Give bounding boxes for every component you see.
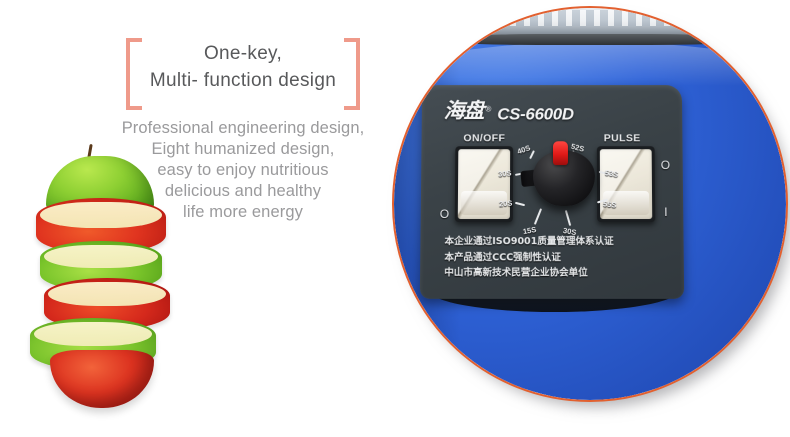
speed-control-knob[interactable] [525,142,603,222]
apple-bottom-red [50,350,154,408]
onoff-rocker-face [458,149,510,219]
onoff-switch-label: ON/OFF [463,132,505,144]
product-photo-circle: 海盘 ® CS-6600D ON/OFF O PULSE O I [392,6,788,402]
body-copy: Professional engineering design, Eight h… [118,118,368,223]
model-number: CS-6600D [497,105,574,125]
brand-row: 海盘 ® CS-6600D [444,95,574,125]
body-line-3: easy to enjoy nutritious [118,160,368,181]
knob-tick-30s-left: 30S [498,168,512,178]
left-bracket-icon [126,38,142,110]
body-line-4: delicious and healthy [118,181,368,202]
brand-name-cn: 海盘 [444,95,484,125]
blender-jar-lip [444,34,744,45]
pulse-switch-label: PULSE [604,132,641,144]
certification-line-1: 本企业通过ISO9001质量管理体系认证 [444,234,660,250]
body-line-1: Professional engineering design, [118,118,368,139]
promo-banner: One-key, Multi- function design Professi… [0,0,790,437]
control-panel: 海盘 ® CS-6600D ON/OFF O PULSE O I [420,85,684,299]
pulse-off-mark: O [661,158,670,172]
promo-copy-block: One-key, Multi- function design Professi… [118,34,368,223]
pulse-rocker-switch[interactable] [597,146,655,222]
body-line-2: Eight humanized design, [118,139,368,160]
knob-tickline-20s [515,202,525,206]
right-bracket-icon [344,38,360,110]
headline-wrap: One-key, Multi- function design [118,34,368,102]
certification-block: 本企业通过ISO9001质量管理体系认证 本产品通过CCC强制性认证 中山市高新… [444,234,661,281]
pulse-on-mark: I [664,205,667,219]
body-line-5: life more energy [118,202,368,223]
certification-line-2: 本产品通过CCC强制性认证 [444,250,660,266]
headline-line-1: One-key, [148,40,338,67]
knob-red-indicator [553,141,568,165]
onoff-off-mark: O [440,207,449,221]
knob-tick-20s: 20S [499,199,513,209]
onoff-rocker-switch[interactable] [455,146,513,222]
knob-tick-55s: 55S [603,199,617,209]
certification-line-3: 中山市高新技术民营企业协会单位 [444,265,661,281]
headline-line-2: Multi- function design [148,67,338,94]
product-photo-inner: 海盘 ® CS-6600D ON/OFF O PULSE O I [394,8,786,400]
knob-tick-53s: 53S [604,168,618,179]
registered-icon: ® [485,105,491,114]
